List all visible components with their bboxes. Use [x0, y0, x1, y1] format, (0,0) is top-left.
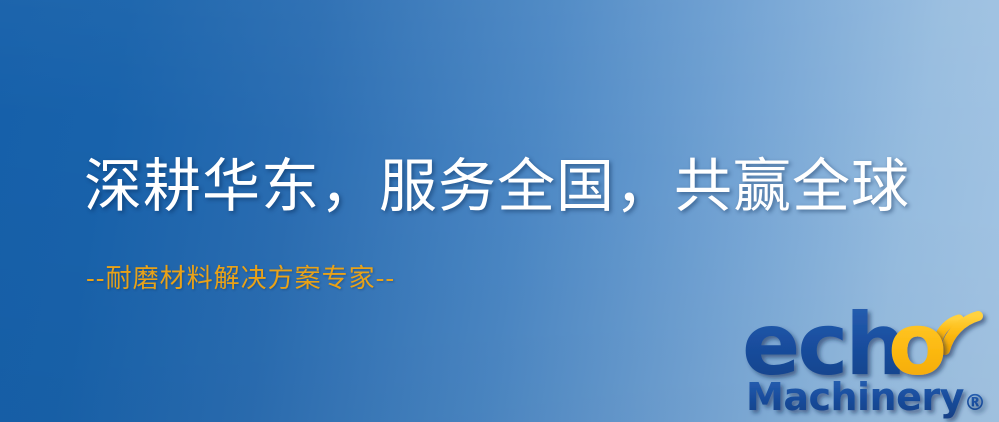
- banner-headline: 深耕华东，服务全国，共赢全球: [84, 155, 910, 218]
- banner-subtitle: --耐磨材料解决方案专家--: [86, 265, 395, 294]
- logo-registered-mark: ®: [964, 391, 986, 416]
- hero-banner: 深耕华东，服务全国，共赢全球 --耐磨材料解决方案专家--: [0, 0, 999, 422]
- logo-tagline: Machinery: [746, 375, 965, 419]
- echo-machinery-logo[interactable]: ech o Machinery ®: [742, 292, 999, 422]
